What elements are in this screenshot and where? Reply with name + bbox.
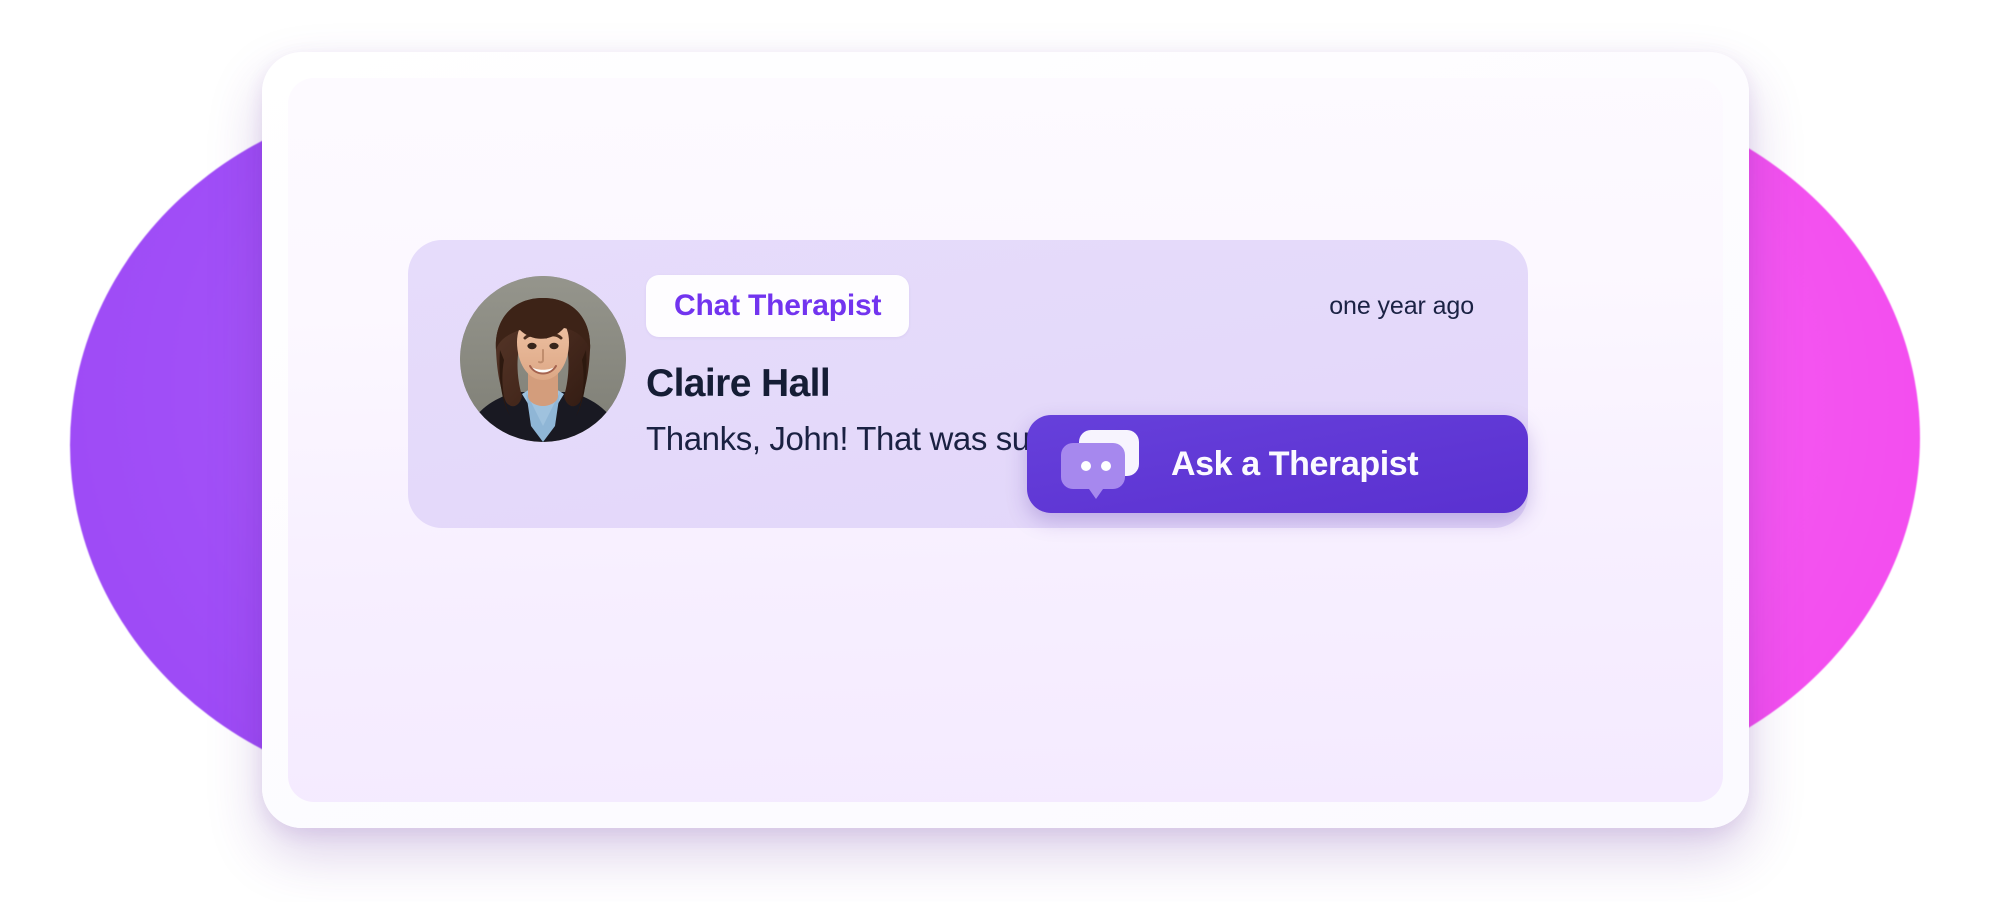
badge-chat-therapist[interactable]: Chat Therapist [646,275,909,337]
badge-label: Chat Therapist [674,289,881,323]
device-screen: Chat Therapist one year ago Claire Hall … [288,78,1723,802]
avatar [460,276,626,442]
timestamp: one year ago [1329,292,1474,321]
screenshot-stage: Chat Therapist one year ago Claire Hall … [0,0,2000,902]
chat-bubbles-icon [1059,426,1141,502]
sender-name: Claire Hall [646,362,830,406]
device-frame: Chat Therapist one year ago Claire Hall … [262,52,1749,828]
ask-a-therapist-label: Ask a Therapist [1171,445,1418,484]
ask-a-therapist-button[interactable]: Ask a Therapist [1027,415,1528,513]
